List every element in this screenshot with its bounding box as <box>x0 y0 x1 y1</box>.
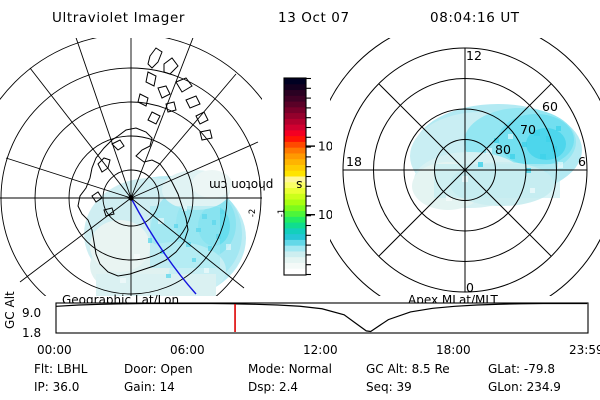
ultraviolet-imager-screen: Ultraviolet Imager 13 Oct 07 08:04:16 UT <box>0 0 600 400</box>
colorbar-swatch <box>285 130 306 136</box>
status-field-value: LBHL <box>57 362 88 376</box>
header-bar: Ultraviolet Imager 13 Oct 07 08:04:16 UT <box>0 6 600 32</box>
colorbar-swatch <box>285 84 306 90</box>
status-field-label: Dsp: <box>248 380 279 394</box>
mlat-label-70: 70 <box>520 122 536 137</box>
mlt-label-6: 6 <box>578 154 586 169</box>
colorbar-swatch <box>285 142 306 148</box>
status-field-label: IP: <box>34 380 53 394</box>
status-field-label: Gain: <box>124 380 159 394</box>
colorbar-swatch <box>285 96 306 102</box>
colorbar-label-mid: s <box>238 178 302 192</box>
apex-plot: 12 18 6 0 60 70 80 <box>330 38 600 296</box>
status-row-2: IP: 36.0Gain: 14Dsp: 2.4Seq: 39GLon: 234… <box>0 380 600 398</box>
colorbar-swatch <box>285 269 306 275</box>
status-field-value: 8.5 Re <box>412 362 450 376</box>
coastline-landmasses <box>138 48 212 140</box>
time-axis-label: 00:00 <box>37 343 72 357</box>
altitude-plot-frame <box>56 303 588 333</box>
colorbar-swatch <box>285 246 306 252</box>
colorbar-swatch <box>285 107 306 113</box>
altitude-plot-svg <box>0 292 600 350</box>
mlt-label-12: 12 <box>466 48 482 63</box>
time-axis-label: 06:00 <box>170 343 205 357</box>
colorbar-swatch <box>285 263 306 269</box>
colorbar-swatch <box>285 257 306 263</box>
apex-plot-svg: 12 18 6 0 60 70 80 <box>330 38 600 296</box>
status-field-label: GC Alt: <box>366 362 412 376</box>
mlat-label-60: 60 <box>542 99 558 114</box>
mlat-label-80: 80 <box>495 142 511 157</box>
altitude-timeseries-plot[interactable] <box>0 292 600 350</box>
colorbar-swatch <box>285 217 306 223</box>
status-field-label: GLat: <box>488 362 524 376</box>
colorbar-swatch <box>285 90 306 96</box>
colorbar-swatch <box>285 240 306 246</box>
subsatellite-point <box>128 195 133 200</box>
instrument-title: Ultraviolet Imager <box>52 10 185 26</box>
time-axis-label: 23:59 <box>569 343 600 357</box>
colorbar-swatch <box>285 136 306 142</box>
status-field: Gain: 14 <box>124 380 175 394</box>
status-field: IP: 36.0 <box>34 380 79 394</box>
status-panel: Flt: LBHLDoor: OpenMode: NormalGC Alt: 8… <box>0 362 600 400</box>
status-field-label: Flt: <box>34 362 57 376</box>
colorbar-swatch <box>285 102 306 108</box>
geographic-plot-svg <box>0 38 262 296</box>
status-field-value: 2.4 <box>279 380 298 394</box>
time-axis-label: 18:00 <box>436 343 471 357</box>
mlt-spokes <box>343 48 587 292</box>
geographic-plot <box>0 38 262 296</box>
mlt-label-18: 18 <box>346 154 362 169</box>
colorbar-swatch <box>285 119 306 125</box>
status-field-label: GLon: <box>488 380 527 394</box>
status-field: GC Alt: 8.5 Re <box>366 362 450 376</box>
colorbar-swatch <box>285 79 306 85</box>
time-axis: 00:0006:0012:0018:0023:59 <box>0 343 600 359</box>
status-field: Seq: 39 <box>366 380 412 394</box>
status-field-label: Door: <box>124 362 161 376</box>
status-field-value: -79.8 <box>524 362 555 376</box>
status-field: Mode: Normal <box>248 362 332 376</box>
status-field-value: Open <box>161 362 193 376</box>
status-row-1: Flt: LBHLDoor: OpenMode: NormalGC Alt: 8… <box>0 362 600 380</box>
status-field: GLon: 234.9 <box>488 380 561 394</box>
status-field: GLat: -79.8 <box>488 362 555 376</box>
status-field-label: Mode: <box>248 362 289 376</box>
colorbar-swatch <box>285 251 306 257</box>
colorbar-swatch <box>285 223 306 229</box>
status-field: Dsp: 2.4 <box>248 380 298 394</box>
observation-date: 13 Oct 07 <box>278 10 350 26</box>
colorbar-label-sup2: -1 <box>277 209 287 217</box>
status-field-value: 39 <box>396 380 411 394</box>
aurora-emission-apex <box>410 104 582 210</box>
status-field-label: Seq: <box>366 380 396 394</box>
colorbar-swatch <box>285 113 306 119</box>
colorbar-label-sup1: -2 <box>248 209 258 217</box>
observation-time: 08:04:16 UT <box>430 10 520 26</box>
colorbar-swatch <box>285 234 306 240</box>
colorbar-swatch <box>285 125 306 131</box>
colorbar-ticks <box>306 79 315 275</box>
status-field-value: Normal <box>289 362 332 376</box>
status-field-value: 36.0 <box>53 380 80 394</box>
colorbar-axis-label: photon cm-2s-1 <box>252 100 274 270</box>
colorbar-swatch <box>285 228 306 234</box>
status-field: Door: Open <box>124 362 193 376</box>
status-field-value: 234.9 <box>527 380 561 394</box>
status-field-value: 14 <box>159 380 174 394</box>
time-axis-label: 12:00 <box>303 343 338 357</box>
status-field: Flt: LBHL <box>34 362 87 376</box>
